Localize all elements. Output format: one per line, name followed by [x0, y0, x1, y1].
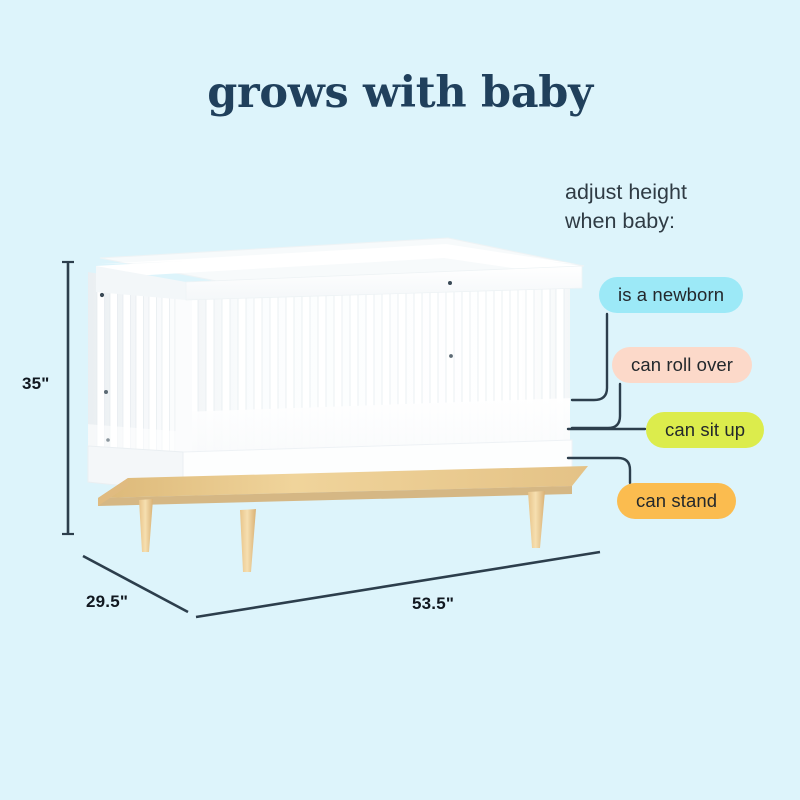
crib-mattress — [183, 398, 572, 482]
crib-wood-base-left — [98, 478, 128, 506]
crib-hardware-dot — [104, 390, 108, 394]
connector-is-a-newborn — [572, 314, 607, 400]
crib-corner-post — [176, 284, 192, 480]
crib-top-rail-front — [186, 266, 582, 300]
crib-illustration — [0, 0, 800, 800]
badge-can-roll-over[interactable]: can roll over — [612, 347, 752, 383]
crib-wood-base-edge — [98, 486, 572, 506]
adjust-height-copy: adjust height when baby: — [565, 178, 795, 236]
adjust-height-line-1: adjust height — [565, 178, 795, 207]
dimension-label-depth: 29.5" — [86, 592, 128, 612]
crib-top-rail-surface — [96, 246, 580, 278]
dimension-label-height: 35" — [22, 374, 50, 394]
connector-can-roll-over — [572, 384, 620, 428]
crib-front-slats — [180, 272, 580, 484]
crib-hardware-dot — [449, 354, 453, 358]
crib-top-rail-side — [96, 266, 186, 300]
crib-leg-front-right — [528, 491, 545, 548]
crib-hardware-dot — [100, 293, 104, 297]
badge-can-stand[interactable]: can stand — [617, 483, 736, 519]
dimension-lines — [62, 262, 600, 617]
crib-front-lower-panel — [183, 440, 572, 492]
crib-side-lower-panel — [88, 446, 183, 492]
connector-can-stand — [568, 458, 630, 483]
badge-can-sit-up[interactable]: can sit up — [646, 412, 764, 448]
badge-is-a-newborn[interactable]: is a newborn — [599, 277, 743, 313]
crib-leg-left — [240, 509, 256, 572]
page-title: grows with baby — [0, 68, 800, 118]
crib-wood-base-top — [98, 466, 588, 498]
mattress-height-connectors — [568, 314, 648, 483]
product-dimension-graphic: grows with baby adjust height when baby: — [0, 0, 800, 800]
dimension-label-width: 53.5" — [412, 594, 454, 614]
crib-hardware-dot — [448, 281, 452, 285]
crib-side-slats — [86, 270, 186, 482]
crib-back-rail — [100, 238, 584, 284]
dimension-line-width — [196, 552, 600, 617]
crib-hardware-dot — [106, 438, 110, 442]
crib-leg-front-left — [139, 499, 153, 552]
crib-body — [86, 238, 588, 572]
adjust-height-line-2: when baby: — [565, 207, 795, 236]
